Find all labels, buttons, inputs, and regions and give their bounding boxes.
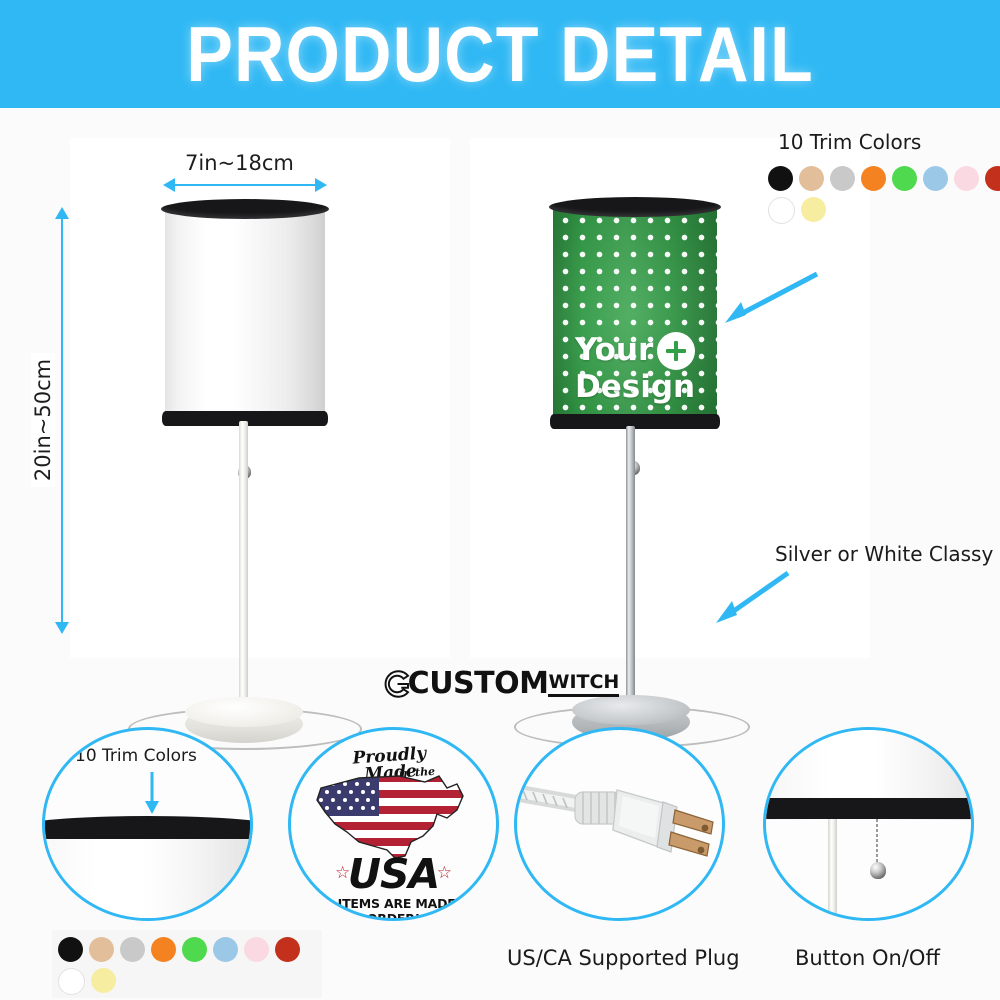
logo-c-icon <box>381 669 411 699</box>
logo-lockup: CUSTOM WITCH <box>381 669 620 699</box>
swatch-green[interactable] <box>892 166 917 191</box>
white-lamp-shade <box>165 208 325 418</box>
swatch-dark-red[interactable] <box>275 937 300 962</box>
white-lamp-shade-body <box>165 208 325 418</box>
feature-circle-switch <box>763 727 974 921</box>
feature-circle-made-in-usa: Proudly Made in the <box>288 727 499 921</box>
trim-colors-top-swatches[interactable] <box>768 166 1000 224</box>
switch-pull-knob[interactable] <box>870 862 886 879</box>
trim-colors-down-arrow <box>141 770 163 818</box>
page-header: PRODUCT DETAIL <box>0 0 1000 108</box>
usa-subtitle-text: ALL ITEMS ARE MADE TO ORDER! <box>291 896 496 921</box>
plug-caption: US/CA Supported Plug <box>507 946 740 970</box>
plus-circle-icon[interactable] <box>657 332 695 370</box>
switch-pull-chain <box>876 819 878 865</box>
switch-closeup <box>766 730 971 918</box>
swatch-tan[interactable] <box>799 166 824 191</box>
switch-closeup-pole <box>828 819 837 918</box>
usa-badge: Proudly Made in the <box>291 730 496 918</box>
brand-logo: CUSTOM WITCH <box>0 662 1000 706</box>
swatch-yellow[interactable] <box>91 968 116 993</box>
swatch-white[interactable] <box>768 197 795 224</box>
power-plug-icon <box>517 730 722 918</box>
swatch-orange[interactable] <box>151 937 176 962</box>
base-finish-label: Silver or White Classy <box>775 542 993 566</box>
white-lamp <box>0 108 400 668</box>
main-product-panel: 7in~18cm 20in~50cm <box>0 108 1000 700</box>
swatch-white[interactable] <box>58 968 85 995</box>
swatch-gray[interactable] <box>120 937 145 962</box>
logo-custom-text: CUSTOM <box>408 669 549 699</box>
switch-closeup-trim <box>763 798 974 819</box>
swatch-green[interactable] <box>182 937 207 962</box>
feature-circle-trim-colors: 10 Trim Colors <box>42 727 253 921</box>
trim-closeup-band-fill <box>42 827 253 839</box>
trim-colors-top-label: 10 Trim Colors <box>778 130 921 154</box>
page-title: PRODUCT DETAIL <box>186 9 814 99</box>
product-detail-page: PRODUCT DETAIL 7in~18cm 20in~50cm <box>0 0 1000 1000</box>
plug-closeup <box>517 730 722 918</box>
swatch-black[interactable] <box>58 937 83 962</box>
green-lamp-top-trim <box>549 197 721 217</box>
logo-witch-text: WITCH <box>548 672 619 697</box>
swatch-light-blue[interactable] <box>923 166 948 191</box>
swatch-pink[interactable] <box>244 937 269 962</box>
green-lamp-shade: Your Design <box>553 206 717 422</box>
swatch-tan[interactable] <box>89 937 114 962</box>
swatch-dark-red[interactable] <box>985 166 1000 191</box>
trim-colors-bottom-label: 10 Trim Colors <box>75 746 197 766</box>
usa-star-right: ☆ <box>437 863 452 883</box>
swatch-light-blue[interactable] <box>213 937 238 962</box>
white-lamp-top-trim <box>161 199 329 219</box>
usa-word-text: USA <box>291 850 496 898</box>
trim-closeup-shade <box>42 826 253 921</box>
swatch-gray[interactable] <box>830 166 855 191</box>
design-line-2: Design <box>575 369 695 405</box>
swatch-yellow[interactable] <box>801 197 826 222</box>
swatch-black[interactable] <box>768 166 793 191</box>
switch-caption: Button On/Off <box>795 946 940 970</box>
swatch-pink[interactable] <box>954 166 979 191</box>
trim-colors-bottom-swatches[interactable] <box>58 937 310 995</box>
swatch-orange[interactable] <box>861 166 886 191</box>
green-lamp-bottom-trim <box>550 414 720 429</box>
design-line-1: Your <box>575 332 653 368</box>
feature-circle-plug <box>514 727 725 921</box>
